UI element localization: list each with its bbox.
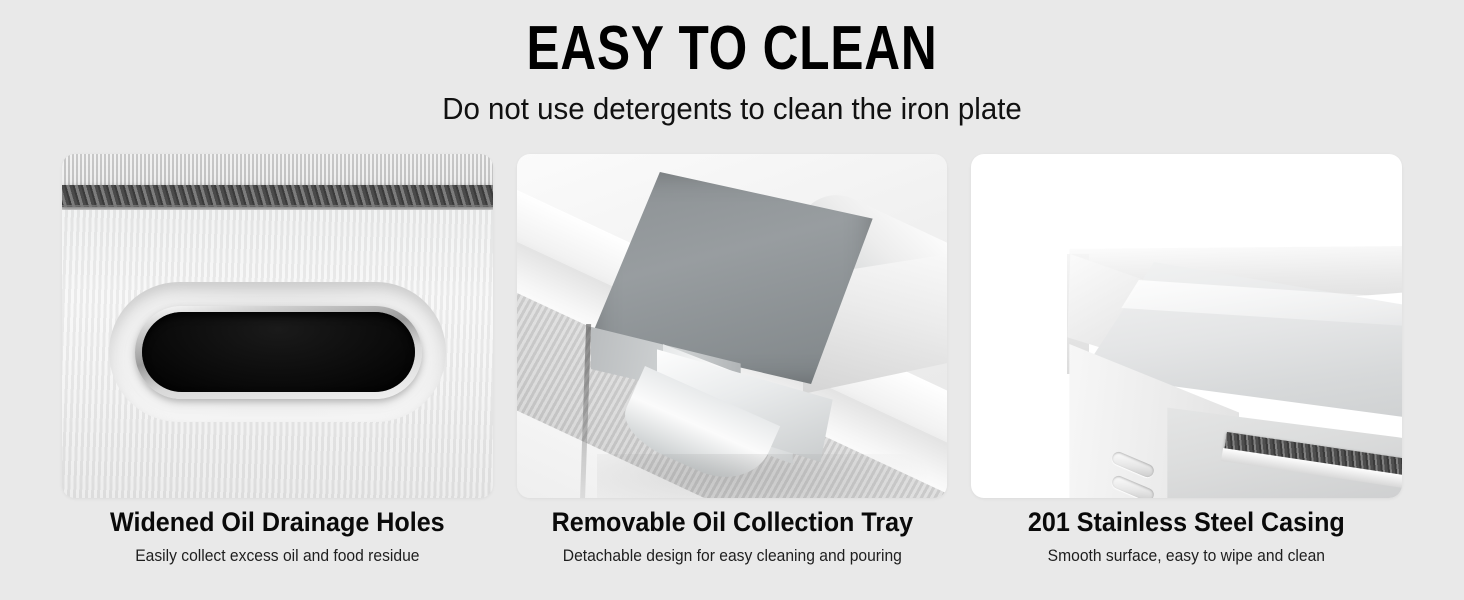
easy-to-clean-infographic: EASY TO CLEAN Do not use detergents to c… [0,0,1464,600]
page-title: EASY TO CLEAN [146,18,1317,80]
tray-shadow [597,454,927,498]
oil-drainage-hole [142,312,415,392]
feature-description: Easily collect excess oil and food resid… [79,545,475,566]
feature-caption-steel-casing: 201 Stainless Steel Casing Smooth surfac… [971,506,1402,586]
feature-caption-oil-tray: Removable Oil Collection Tray Detachable… [517,506,948,586]
header-block: EASY TO CLEAN Do not use detergents to c… [0,18,1464,126]
feature-heading: Removable Oil Collection Tray [532,506,933,538]
feature-image-drainage-hole [62,154,493,498]
feature-heading: 201 Stainless Steel Casing [986,506,1387,538]
feature-heading: Widened Oil Drainage Holes [77,506,478,538]
feature-image-steel-casing [971,154,1402,498]
feature-image-oil-tray [517,154,948,498]
feature-description: Detachable design for easy cleaning and … [534,545,930,566]
feature-description: Smooth surface, easy to wipe and clean [989,545,1385,566]
feature-card-row [62,154,1402,498]
brushed-steel-top-band [62,154,493,186]
feature-caption-drainage-hole: Widened Oil Drainage Holes Easily collec… [62,506,493,586]
weld-seam-band [62,185,493,207]
feature-caption-row: Widened Oil Drainage Holes Easily collec… [62,506,1402,586]
page-subtitle: Do not use detergents to clean the iron … [37,92,1428,126]
